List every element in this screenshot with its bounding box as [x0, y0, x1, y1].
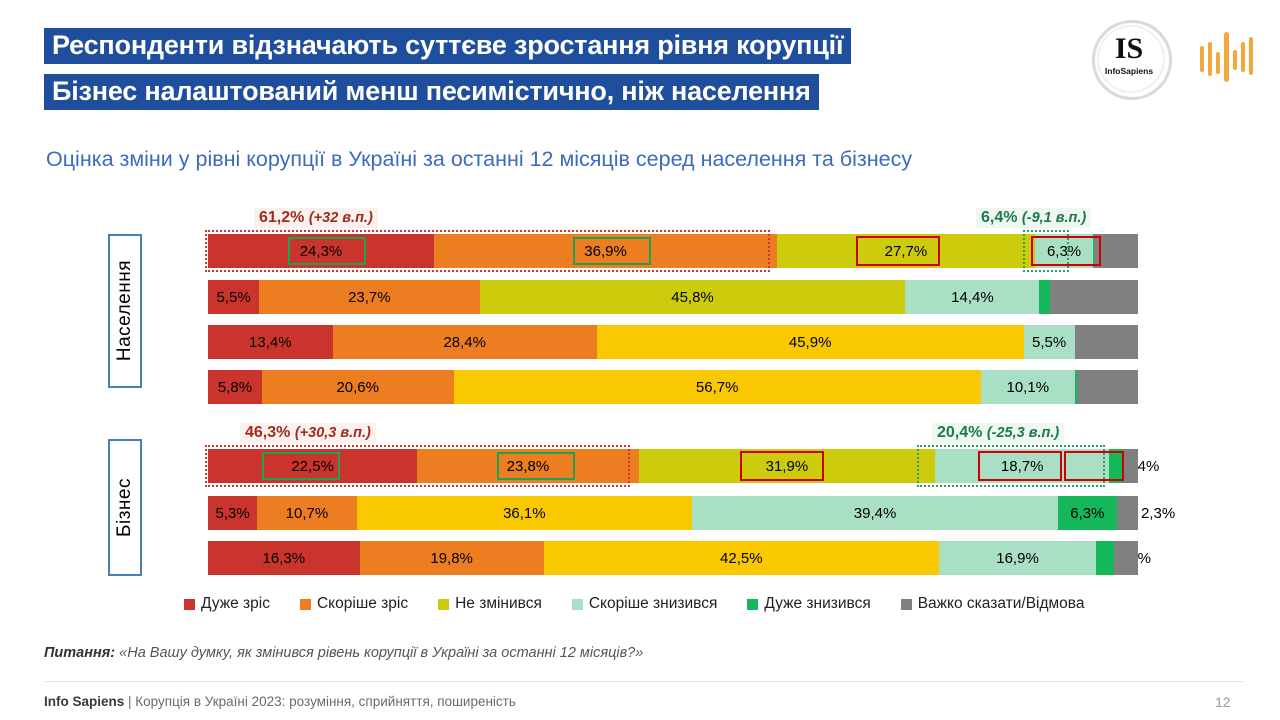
legend-label: Не змінився — [455, 595, 542, 613]
footer-doc-title: Корупція в Україні 2023: розуміння, спри… — [135, 694, 516, 709]
bar-segment-label: 10,7% — [286, 506, 329, 521]
bar-segment-label: 16,3% — [263, 551, 306, 566]
bar-segment-label: 19,8% — [430, 551, 473, 566]
infosapiens-circle-logo-icon: IS InfoSapiens — [1090, 18, 1168, 96]
bar-segment — [1094, 234, 1138, 268]
bar-segment: 27,7% — [777, 234, 1035, 268]
bar-segment — [1077, 370, 1138, 404]
footer-brand: Info Sapiens — [44, 694, 124, 709]
table-row[interactable]: 13,4%28,4%45,9%5,5%0,0% 2021 — [208, 325, 1138, 359]
question-footnote: Питання: «На Вашу думку, як змінився рів… — [44, 645, 643, 661]
slide-header: Респонденти відзначають суттєве зростанн… — [0, 0, 1280, 130]
legend-item[interactable]: Дуже зріс — [184, 595, 270, 613]
bar-segment-label: 45,9% — [789, 335, 832, 350]
bar-segment: 20,6% — [262, 370, 454, 404]
bar-segment-label: 2,3% — [1141, 506, 1175, 521]
bar-segment: 5,3% — [208, 496, 257, 530]
bar-segment-label: 42,5% — [720, 551, 763, 566]
bar-segment — [1075, 325, 1138, 359]
group-label-business-text: Бізнес — [114, 478, 136, 537]
bar-segment-label: 23,7% — [348, 290, 391, 305]
question-footnote-label: Питання: — [44, 645, 115, 661]
logo-group: IS InfoSapiens — [1090, 18, 1270, 98]
footer-caption: Info Sapiens | Корупція в Україні 2023: … — [44, 694, 516, 709]
table-row[interactable]: 5,8%20,6%56,7%10,1%0,2% 2020 — [208, 370, 1138, 404]
table-row[interactable]: 16,3%19,8%42,5%16,9%1,9% 2021 — [208, 541, 1138, 575]
bar-segment-label: 14,4% — [951, 290, 994, 305]
bar-segment: 13,4% — [208, 325, 333, 359]
table-row[interactable]: 5,3%10,7%36,1%39,4%6,3%2,3% 2022 — [208, 496, 1138, 530]
bar-segment-label: 5,8% — [218, 380, 252, 395]
bar-segment-label: 31,9% — [766, 459, 809, 474]
bar-segment-label: 27,7% — [885, 244, 928, 259]
bracket-population-grew — [205, 230, 770, 272]
bar-segment-label: 45,8% — [671, 290, 714, 305]
legend-item[interactable]: Важко сказати/Відмова — [901, 595, 1085, 613]
legend-label: Скоріше знизився — [589, 595, 718, 613]
logo-wordmark: InfoSapiens — [1090, 66, 1168, 76]
bar-segment: 1,1% — [1039, 280, 1049, 314]
legend-swatch — [901, 599, 912, 610]
page-title-line-2: Бізнес налаштований менш песимістично, н… — [44, 74, 819, 110]
stacked-bar-chart: Населення Бізнес 61,2% (+32 в.п.) 6,4% (… — [0, 195, 1280, 595]
footer-separator: | — [124, 694, 135, 709]
callout-business-fell-value: 20,4% — [937, 424, 982, 441]
legend-swatch — [300, 599, 311, 610]
bar-segment-label: 5,3% — [216, 506, 250, 521]
bracket-business-fell — [917, 445, 1105, 487]
orange-bars-wave-logo-icon — [1198, 26, 1260, 88]
legend-item[interactable]: Скоріше зріс — [300, 595, 408, 613]
question-footnote-text: «На Вашу думку, як змінився рівень коруп… — [119, 645, 643, 661]
callout-population-fell-value: 6,4% — [981, 209, 1017, 226]
bar-segment-label: 28,4% — [443, 335, 486, 350]
slide-subtitle: Оцінка зміни у рівні корупції в Україні … — [46, 147, 912, 172]
bar-segment: 5,5% — [208, 280, 259, 314]
bar-segment: 36,1% — [357, 496, 692, 530]
bar-segment-label: 5,5% — [1032, 335, 1066, 350]
group-label-population: Населення — [108, 234, 142, 388]
bar-segment: 10,1% — [981, 370, 1075, 404]
callout-business-grew-value: 46,3% — [245, 424, 290, 441]
bracket-population-fell — [1023, 230, 1069, 272]
callout-business-grew-delta: (+30,3 в.п.) — [295, 425, 371, 441]
legend-item[interactable]: Скоріше знизився — [572, 595, 718, 613]
callout-business-grew: 46,3% (+30,3 в.п.) — [240, 423, 376, 443]
bar-segment: 56,7% — [454, 370, 981, 404]
bar-segment: 23,7% — [259, 280, 479, 314]
legend-label: Дуже зріс — [201, 595, 270, 613]
legend-label: Дуже знизився — [764, 595, 870, 613]
footer-divider — [44, 681, 1244, 682]
callout-population-grew: 61,2% (+32 в.п.) — [254, 208, 378, 228]
logo-initials: IS — [1090, 34, 1168, 64]
chart-legend: Дуже зрісСкоріше зрісНе змінивсяСкоріше … — [184, 592, 1194, 616]
callout-population-fell: 6,4% (-9,1 в.п.) — [976, 208, 1091, 228]
bar-business-2021: 16,3%19,8%42,5%16,9%1,9% — [208, 541, 1138, 575]
bar-segment: 28,4% — [333, 325, 597, 359]
bar-segment: 31,9% — [639, 449, 936, 483]
bar-segment: 2,3% — [1117, 496, 1138, 530]
callout-population-fell-delta: (-9,1 в.п.) — [1022, 210, 1086, 226]
group-label-population-text: Населення — [114, 260, 136, 361]
bar-segment: 6,3% — [1058, 496, 1117, 530]
bar-segment — [1122, 449, 1138, 483]
bar-population-2022: 5,5%23,7%45,8%14,4%1,1% — [208, 280, 1138, 314]
legend-label: Скоріше зріс — [317, 595, 408, 613]
bar-population-2020: 5,8%20,6%56,7%10,1%0,2% — [208, 370, 1138, 404]
bar-segment-label: 36,1% — [503, 506, 546, 521]
bar-segment-label: 39,4% — [854, 506, 897, 521]
bar-segment: 42,5% — [544, 541, 939, 575]
bar-segment-label: 10,1% — [1007, 380, 1050, 395]
callout-population-grew-delta: (+32 в.п.) — [309, 210, 373, 226]
callout-population-grew-value: 61,2% — [259, 209, 304, 226]
legend-item[interactable]: Не змінився — [438, 595, 542, 613]
legend-swatch — [747, 599, 758, 610]
page-number: 12 — [1215, 694, 1231, 710]
bar-segment: 5,5% — [1024, 325, 1075, 359]
legend-swatch — [438, 599, 449, 610]
table-row[interactable]: 5,5%23,7%45,8%14,4%1,1% 2022 — [208, 280, 1138, 314]
bar-segment — [1050, 280, 1138, 314]
bar-segment — [1114, 541, 1138, 575]
legend-swatch — [572, 599, 583, 610]
bar-segment-label: 6,3% — [1070, 506, 1104, 521]
bar-segment: 16,9% — [939, 541, 1096, 575]
bar-segment: 19,8% — [360, 541, 544, 575]
bar-segment: 14,4% — [905, 280, 1039, 314]
bar-business-2022: 5,3%10,7%36,1%39,4%6,3%2,3% — [208, 496, 1138, 530]
bar-segment: 5,8% — [208, 370, 262, 404]
right-margin-rail — [1268, 0, 1280, 720]
bar-segment: 16,3% — [208, 541, 360, 575]
bar-segment-label: 13,4% — [249, 335, 292, 350]
callout-business-fell-delta: (-25,3 в.п.) — [987, 425, 1059, 441]
legend-swatch — [184, 599, 195, 610]
callout-business-fell: 20,4% (-25,3 в.п.) — [932, 423, 1064, 443]
bar-segment-label: 20,6% — [336, 380, 379, 395]
group-label-business: Бізнес — [108, 439, 142, 576]
bracket-business-grew — [205, 445, 630, 487]
bar-segment: 45,8% — [480, 280, 906, 314]
bar-segment-label: 5,5% — [216, 290, 250, 305]
bar-segment: 39,4% — [692, 496, 1058, 530]
bar-segment-label: 56,7% — [696, 380, 739, 395]
legend-label: Важко сказати/Відмова — [918, 595, 1085, 613]
bar-population-2021: 13,4%28,4%45,9%5,5%0,0% — [208, 325, 1138, 359]
legend-item[interactable]: Дуже знизився — [747, 595, 870, 613]
bar-segment: 10,7% — [257, 496, 356, 530]
page-title-line-1: Респонденти відзначають суттєве зростанн… — [44, 28, 851, 64]
bar-segment: 1,9% — [1096, 541, 1114, 575]
bar-segment-label: 16,9% — [996, 551, 1039, 566]
bar-segment: 45,9% — [597, 325, 1024, 359]
bar-segment: 1,4% — [1109, 449, 1122, 483]
